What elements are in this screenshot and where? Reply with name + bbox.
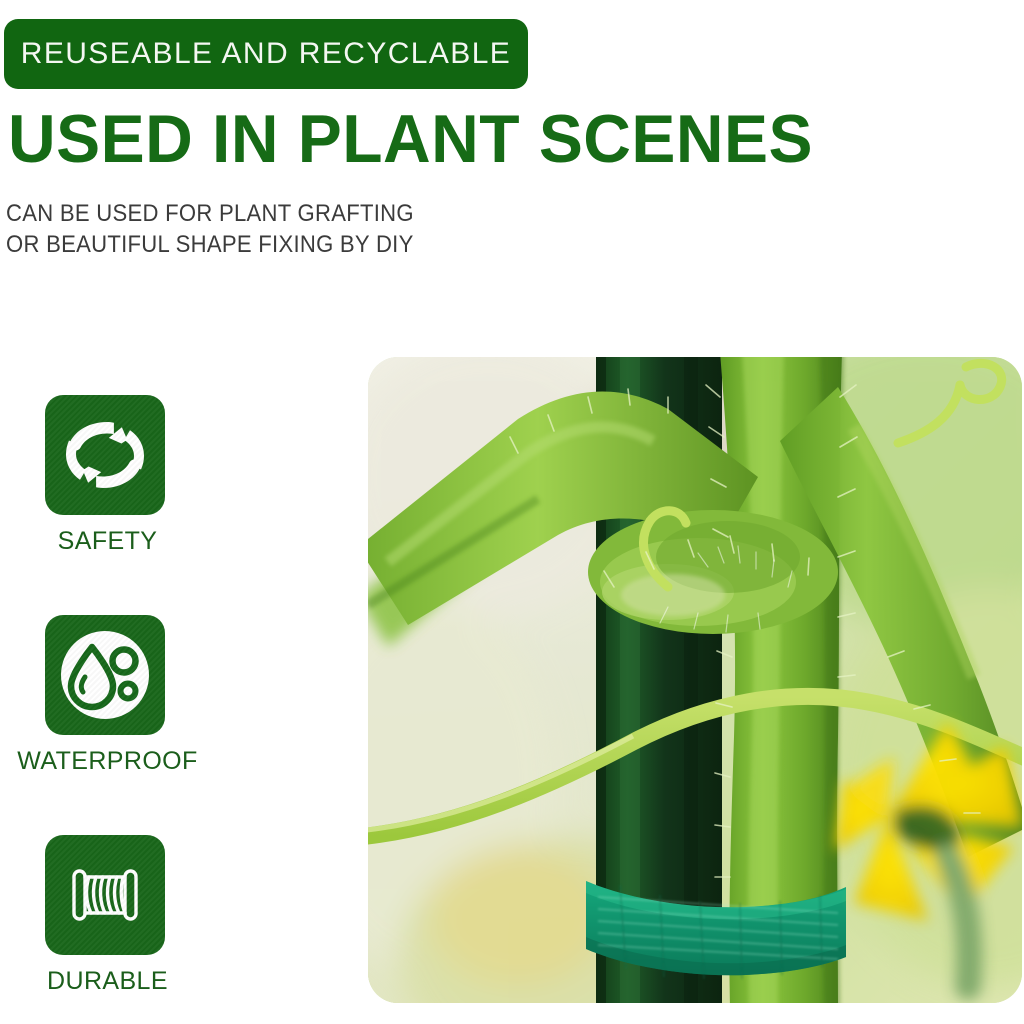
badge-label: REUSEABLE AND RECYCLABLE [21, 37, 511, 71]
feature-label-durable: DURABLE [0, 967, 215, 996]
safety-tile [45, 395, 165, 515]
feature-label-safety: SAFETY [0, 527, 215, 556]
page-title: USED IN PLANT SCENES [8, 100, 939, 178]
tape-spool-icon [45, 835, 165, 955]
feature-label-waterproof: WATERPROOF [0, 747, 215, 776]
reusable-recyclable-badge: REUSEABLE AND RECYCLABLE [4, 19, 528, 89]
product-photo [368, 357, 1022, 1003]
feature-item-waterproof: WATERPROOF [0, 615, 215, 835]
durable-tile [45, 835, 165, 955]
product-feature-banner: REUSEABLE AND RECYCLABLE USED IN PLANT S… [0, 0, 1024, 1024]
feature-item-durable: DURABLE [0, 835, 215, 1024]
recycle-arrows-icon [45, 395, 165, 515]
plant-stem-photo-illustration [368, 357, 1022, 1003]
feature-list: SAFETY WATERPROOF [0, 395, 215, 1024]
feature-item-safety: SAFETY [0, 395, 215, 615]
subtitle-line-2: OR BEAUTIFUL SHAPE FIXING BY DIY [6, 229, 414, 260]
waterproof-tile [45, 615, 165, 735]
subtitle-line-1: CAN BE USED FOR PLANT GRAFTING [6, 198, 414, 229]
water-droplet-icon [45, 615, 165, 735]
